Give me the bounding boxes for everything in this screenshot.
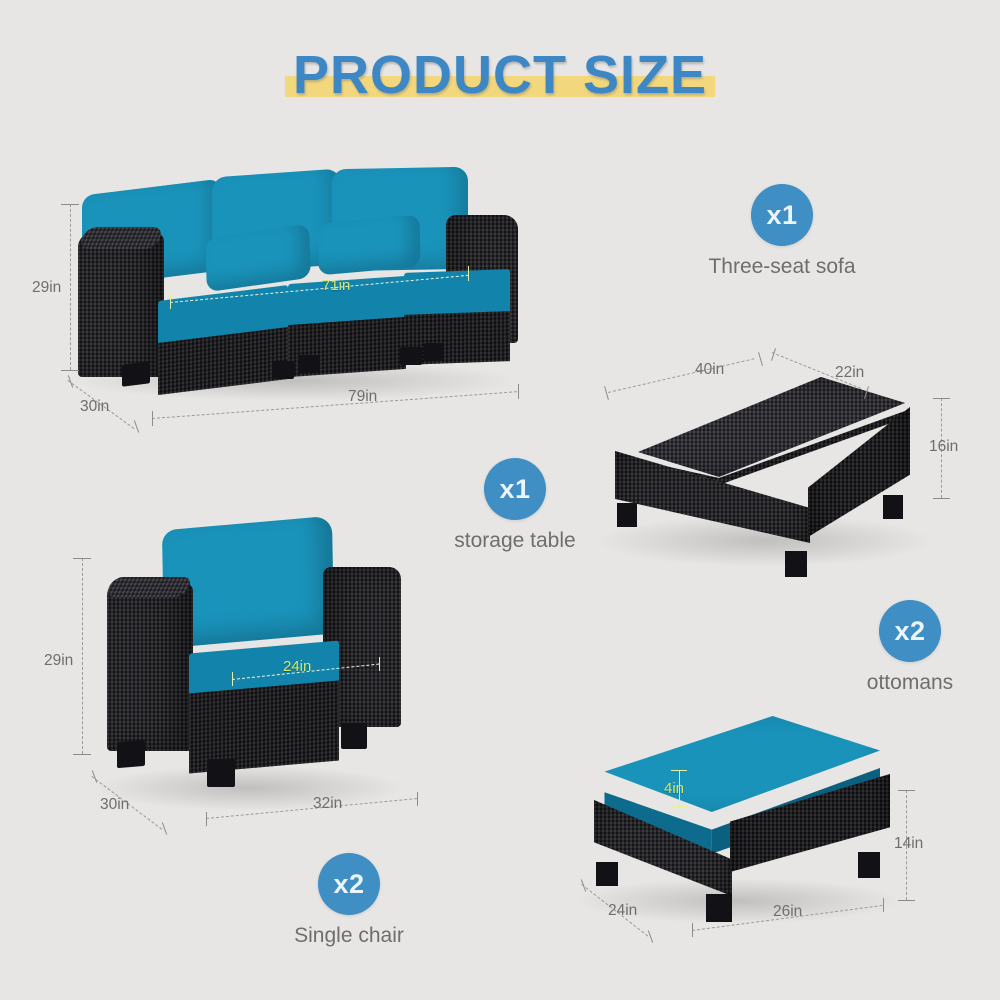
sofa-count-badge-group: x1 Three-seat sofa — [629, 184, 935, 279]
sofa-height-label: 29in — [32, 279, 61, 297]
single-chair-leg-front-left — [117, 740, 145, 768]
single-chair-seat-width-tick-left — [232, 672, 233, 686]
single-chair-width-tick-right — [417, 792, 418, 806]
sofa-leg-right — [400, 347, 422, 365]
storage-table-leg-front-right — [785, 551, 807, 577]
ottoman-cushion-thickness-tick-top — [671, 770, 687, 771]
ottoman-leg-front-left — [596, 862, 618, 886]
page-title: PRODUCT SIZE — [0, 44, 1000, 106]
sofa-width-tick-left — [152, 411, 153, 426]
sofa-height-tick-bottom — [61, 370, 79, 371]
sofa-seat-width-tick-left — [170, 294, 171, 309]
ottoman-count-badge-group: x2 ottomans — [820, 600, 1000, 695]
ottoman-height-label: 14in — [894, 835, 923, 853]
storage-table-illustration — [595, 355, 945, 585]
ottoman-leg-back-right — [858, 852, 880, 878]
sofa-left-arm-top — [78, 227, 165, 249]
storage-table-count-label: x1 — [499, 474, 530, 505]
single-chair-depth-label: 30in — [100, 796, 129, 814]
sofa-leg-mid2 — [298, 355, 320, 373]
single-chair-seat-width-tick-right — [379, 657, 380, 671]
single-chair-name-label: Single chair — [246, 924, 452, 948]
ottoman-depth-label: 24in — [608, 902, 637, 920]
single-chair-leg-back-right — [341, 723, 367, 749]
sofa-count-label: x1 — [766, 200, 797, 231]
ottoman-name-label: ottomans — [820, 671, 1000, 695]
ottoman-height-tick-top — [898, 790, 915, 791]
ottoman-height-tick-bottom — [898, 900, 915, 901]
ottoman-depth-tick-bottom — [648, 930, 653, 943]
storage-table-width-label: 40in — [695, 361, 724, 379]
single-chair-seat-width-label: 24in — [283, 658, 311, 675]
single-chair-count-label: x2 — [333, 869, 364, 900]
single-chair-count-badge-group: x2 Single chair — [246, 853, 452, 948]
ottoman-cushion-thickness-label: 4in — [664, 780, 684, 797]
storage-table-leg-front-left — [617, 503, 637, 527]
sofa-width-label: 79in — [348, 388, 377, 406]
ottoman-width-tick-right — [883, 898, 884, 912]
single-chair-width-tick-left — [206, 812, 207, 826]
single-chair-count-badge: x2 — [318, 853, 380, 915]
infographic-canvas: PRODUCT SIZE 71in — [0, 0, 1000, 1000]
storage-table-depth-label: 22in — [835, 364, 864, 382]
sofa-depth-label: 30in — [80, 398, 109, 416]
single-chair-height-tick-top — [73, 558, 91, 559]
single-chair-height-line — [82, 558, 83, 754]
sofa-count-badge: x1 — [751, 184, 813, 246]
storage-table-count-badge: x1 — [484, 458, 546, 520]
single-chair-left-arm — [107, 583, 193, 751]
sofa-left-arm — [78, 233, 164, 377]
ottoman-illustration — [572, 700, 912, 930]
ottoman-count-label: x2 — [894, 616, 925, 647]
sofa-depth-tick-bottom — [134, 420, 139, 433]
single-chair-width-label: 32in — [313, 795, 342, 813]
sofa-height-tick-top — [61, 204, 79, 205]
storage-table-name-label: storage table — [412, 529, 618, 553]
storage-table-height-label: 16in — [929, 438, 958, 456]
storage-table-count-badge-group: x1 storage table — [412, 458, 618, 553]
ottoman-width-label: 26in — [773, 903, 802, 921]
sofa-height-line — [70, 204, 71, 370]
single-chair-leg-front-right — [207, 759, 235, 787]
single-chair-left-arm-top — [105, 577, 194, 597]
sofa-throw-pillow-right — [318, 215, 421, 276]
sofa-seat-width-label: 71in — [322, 277, 350, 294]
ottoman-count-badge: x2 — [879, 600, 941, 662]
sofa-leg-mid — [272, 361, 294, 379]
ottoman-width-tick-left — [692, 923, 693, 937]
sofa-name-label: Three-seat sofa — [629, 255, 935, 279]
sofa-seat-width-tick-right — [468, 266, 469, 281]
sofa-leg-right2 — [424, 343, 444, 361]
ottoman-cushion-thickness-tick-bottom — [671, 806, 687, 807]
storage-table-height-tick-top — [933, 398, 950, 399]
ottoman-leg-front-right — [706, 894, 732, 922]
storage-table-height-tick-bottom — [933, 498, 950, 499]
sefa-width-tick-right — [518, 384, 519, 399]
single-chair-height-tick-bottom — [73, 754, 91, 755]
page-title-text: PRODUCT SIZE — [293, 44, 707, 106]
single-chair-height-label: 29in — [44, 652, 73, 670]
storage-table-leg-back-right — [883, 495, 903, 519]
sofa-leg-front-left — [122, 361, 150, 386]
